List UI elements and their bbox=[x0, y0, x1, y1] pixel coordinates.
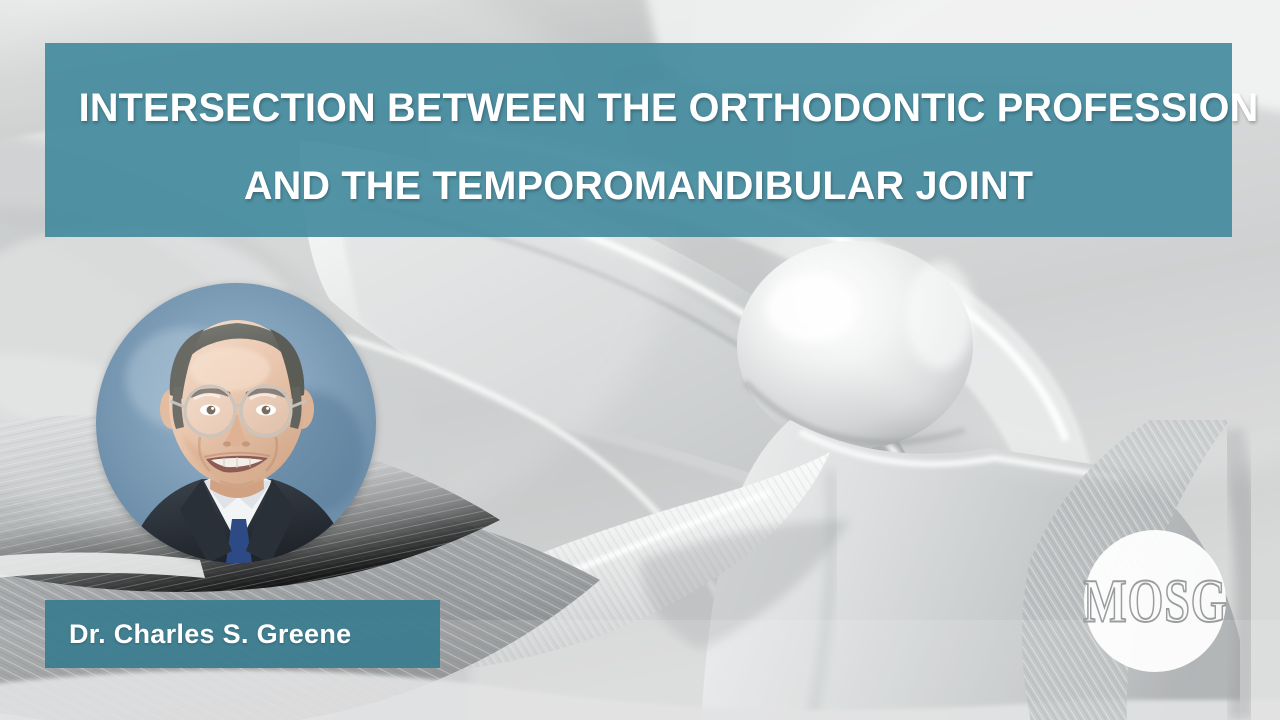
speaker-name-plate: Dr. Charles S. Greene bbox=[45, 600, 440, 668]
speaker-name: Dr. Charles S. Greene bbox=[69, 619, 351, 650]
mosg-logo-badge: MOSG bbox=[1084, 530, 1226, 672]
speaker-portrait-avatar bbox=[96, 283, 376, 563]
title-line-1: INTERSECTION BETWEEN THE ORTHODONTIC PRO… bbox=[79, 69, 1199, 147]
title-line-2: AND THE TEMPOROMANDIBULAR JOINT bbox=[79, 147, 1199, 225]
title-slide: INTERSECTION BETWEEN THE ORTHODONTIC PRO… bbox=[0, 0, 1280, 720]
mosg-logo-text: MOSG bbox=[1083, 571, 1227, 632]
title-banner: INTERSECTION BETWEEN THE ORTHODONTIC PRO… bbox=[45, 43, 1232, 237]
speaker-portrait-image bbox=[96, 283, 376, 563]
